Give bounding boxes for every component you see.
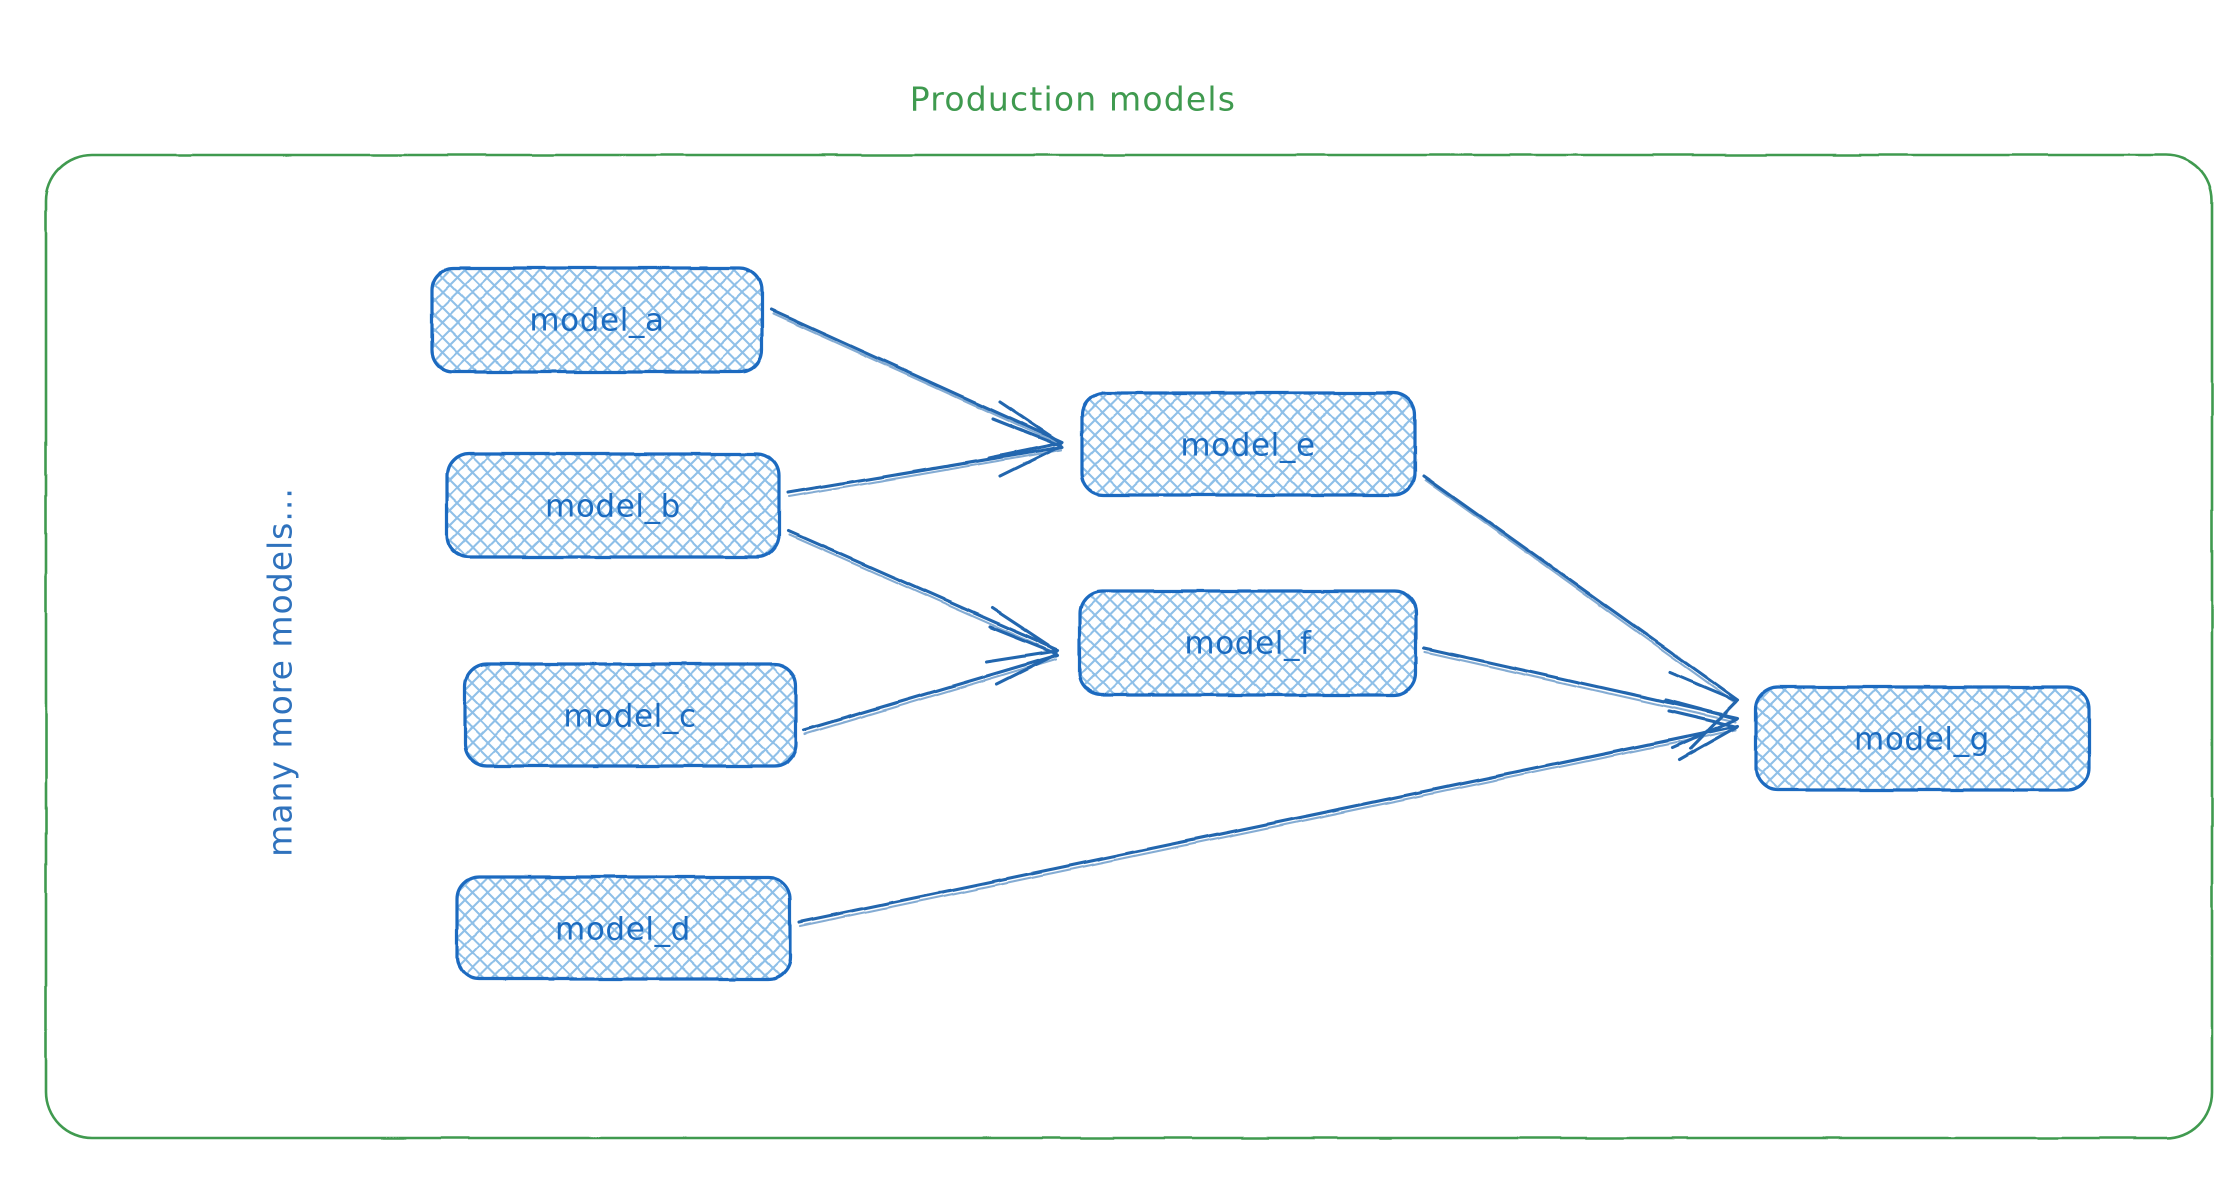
node-model_a[interactable]: model_a: [432, 268, 762, 372]
diagram-canvas: Production models many more models...: [0, 0, 2240, 1188]
side-note-label: many more models...: [261, 487, 300, 857]
node-model_g-label: model_g: [1854, 722, 1990, 758]
edge-model_d-to-model_g: [799, 711, 1738, 926]
node-model_g[interactable]: model_g: [1756, 687, 2089, 790]
node-model_f[interactable]: model_f: [1080, 591, 1416, 695]
edge-model_b-to-model_f: [788, 531, 1058, 662]
dag-svg: Production models many more models...: [0, 0, 2240, 1188]
node-model_e[interactable]: model_e: [1082, 393, 1415, 495]
node-model_f-label: model_f: [1184, 626, 1312, 662]
edge-model_a-to-model_e: [771, 310, 1062, 458]
node-model_b[interactable]: model_b: [447, 454, 779, 557]
node-model_c-label: model_c: [563, 699, 696, 735]
node-model_d-label: model_d: [555, 912, 691, 948]
group-title: Production models: [910, 80, 1236, 119]
node-model_d[interactable]: model_d: [457, 877, 790, 979]
node-model_a-label: model_a: [529, 303, 664, 339]
edge-model_c-to-model_f: [804, 627, 1058, 734]
node-model_b-label: model_b: [545, 489, 681, 525]
many-more-models-note: many more models...: [261, 487, 300, 857]
edge-model_b-to-model_b_e: [788, 419, 1062, 497]
node-model_c[interactable]: model_c: [465, 664, 796, 766]
edge-model_f-to-model_g: [1424, 648, 1738, 748]
node-model_e-label: model_e: [1180, 428, 1315, 464]
node-layer: model_a model_b model_c model_d: [432, 268, 2089, 979]
